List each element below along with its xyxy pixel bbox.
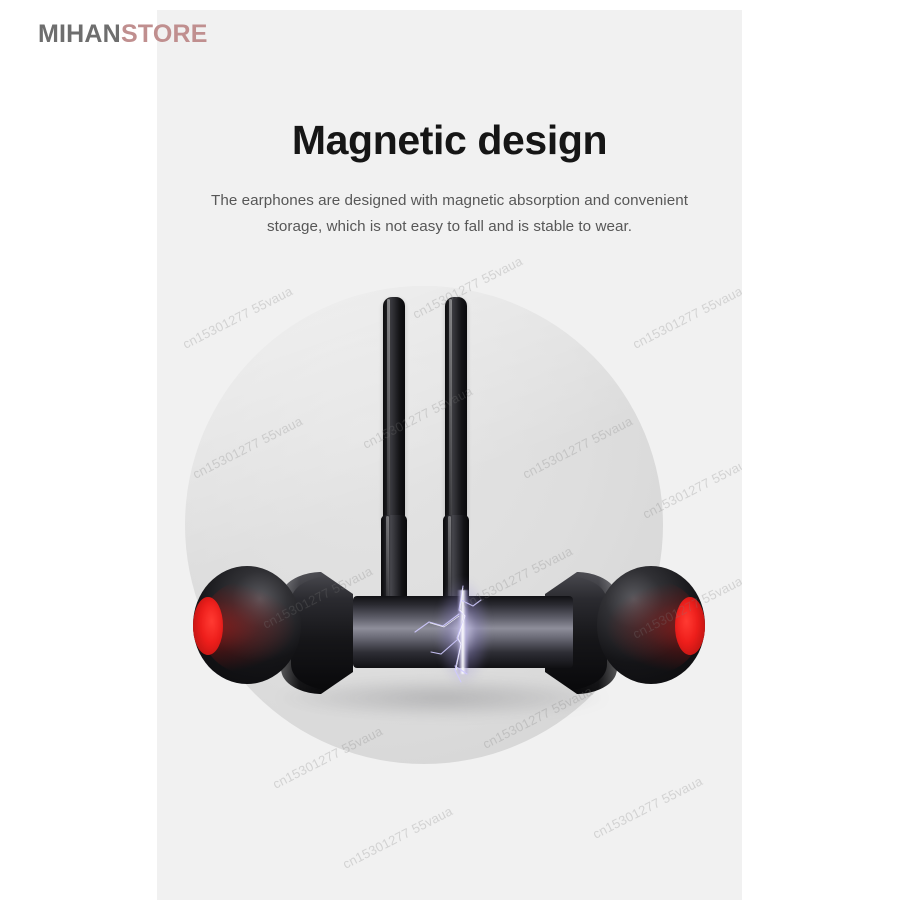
cable-left-icon [383, 297, 405, 529]
lightning-spark-icon [385, 570, 545, 700]
brand-logo-secondary: STORE [121, 20, 208, 48]
content-panel: Magnetic design The earphones are design… [157, 10, 742, 900]
brand-logo: MIHANSTORE [38, 22, 208, 47]
earbud-left-red-tip-icon [193, 597, 223, 655]
product-illustration [157, 10, 742, 900]
product-marketing-page: MIHANSTORE Magnetic design The earphones… [0, 0, 900, 900]
earbud-right-red-tip-icon [675, 597, 705, 655]
cable-right-icon [445, 297, 467, 529]
brand-logo-primary: MIHAN [38, 20, 121, 48]
